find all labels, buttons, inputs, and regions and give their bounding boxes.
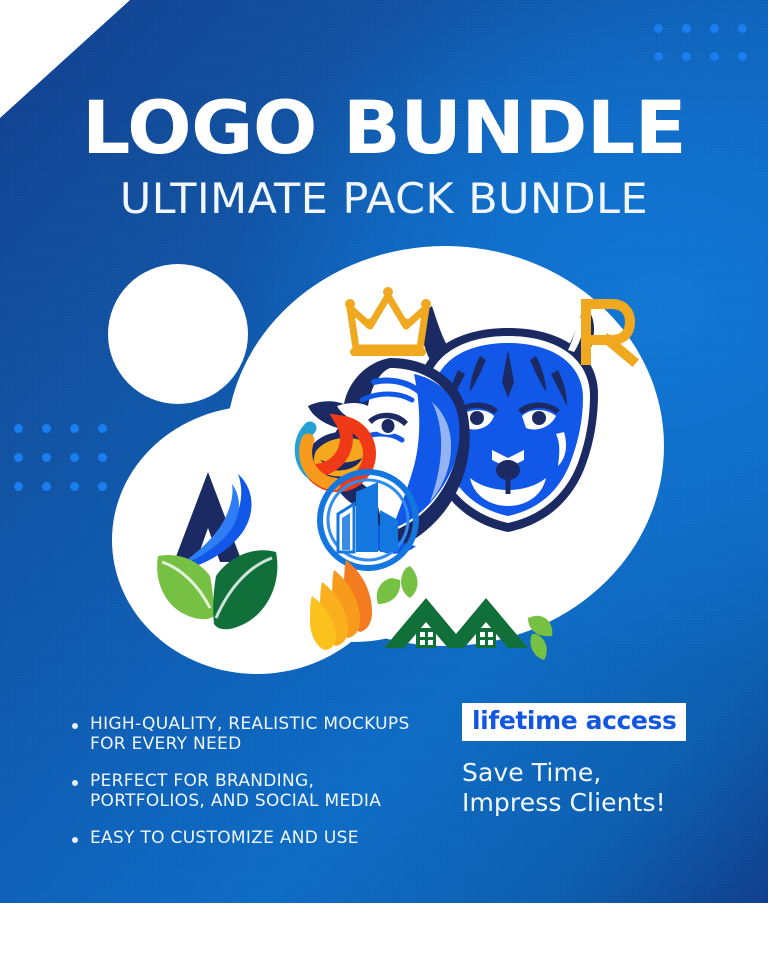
bullet-dot: [72, 780, 78, 786]
decor-dot: [710, 52, 719, 61]
letter-a-leaf-logo: [157, 472, 277, 629]
dot-grid-left: [0, 424, 106, 500]
page-title: LOGO BUNDLE: [0, 94, 768, 163]
headline-block: LOGO BUNDLE ULTIMATE PACK BUNDLE: [0, 94, 768, 221]
decor-dot: [654, 24, 663, 33]
feature-item: HIGH-QUALITY, REALISTIC MOCKUPS FOR EVER…: [72, 714, 432, 754]
decor-dot: [14, 453, 23, 462]
decor-dot: [14, 424, 23, 433]
dot-grid-top-right: [654, 24, 754, 66]
lifetime-access-label: lifetime access: [472, 706, 676, 735]
decor-dot: [682, 52, 691, 61]
decor-dot: [98, 453, 107, 462]
cta-block: lifetime access Save Time, Impress Clien…: [462, 703, 706, 818]
decor-dot: [70, 453, 79, 462]
eagle-mascot-logo: [307, 287, 470, 554]
decor-dot: [42, 453, 51, 462]
decor-dot: [42, 424, 51, 433]
decor-dot: [98, 482, 107, 491]
decor-dot: [98, 424, 107, 433]
decor-dot: [70, 482, 79, 491]
decor-dot: [42, 482, 51, 491]
crown-icon: [345, 287, 431, 352]
feature-item-label: EASY TO CUSTOMIZE AND USE: [90, 828, 359, 848]
feature-item-label: PERFECT FOR BRANDING, PORTFOLIOS, AND SO…: [90, 771, 432, 811]
decor-dot: [738, 52, 747, 61]
decor-dot: [738, 24, 747, 33]
logo-showcase: [108, 246, 664, 676]
decor-dot: [14, 482, 23, 491]
bullet-dot: [72, 837, 78, 843]
decor-dot: [654, 52, 663, 61]
house-roof-logo: [377, 566, 553, 660]
bullet-dot: [72, 723, 78, 729]
decor-dot: [70, 424, 79, 433]
page-subtitle: ULTIMATE PACK BUNDLE: [0, 177, 768, 221]
feature-item: EASY TO CUSTOMIZE AND USE: [72, 828, 432, 848]
decor-dot: [682, 24, 691, 33]
feature-list: HIGH-QUALITY, REALISTIC MOCKUPS FOR EVER…: [72, 714, 432, 865]
cta-tagline: Save Time, Impress Clients!: [462, 758, 706, 818]
feature-item-label: HIGH-QUALITY, REALISTIC MOCKUPS FOR EVER…: [90, 714, 432, 754]
poster-canvas: LOGO BUNDLE ULTIMATE PACK BUNDLE: [0, 0, 768, 960]
flame-fan-logo: [310, 560, 372, 650]
feature-item: PERFECT FOR BRANDING, PORTFOLIOS, AND SO…: [72, 771, 432, 811]
lifetime-access-badge[interactable]: lifetime access: [462, 703, 686, 741]
decor-dot: [710, 24, 719, 33]
